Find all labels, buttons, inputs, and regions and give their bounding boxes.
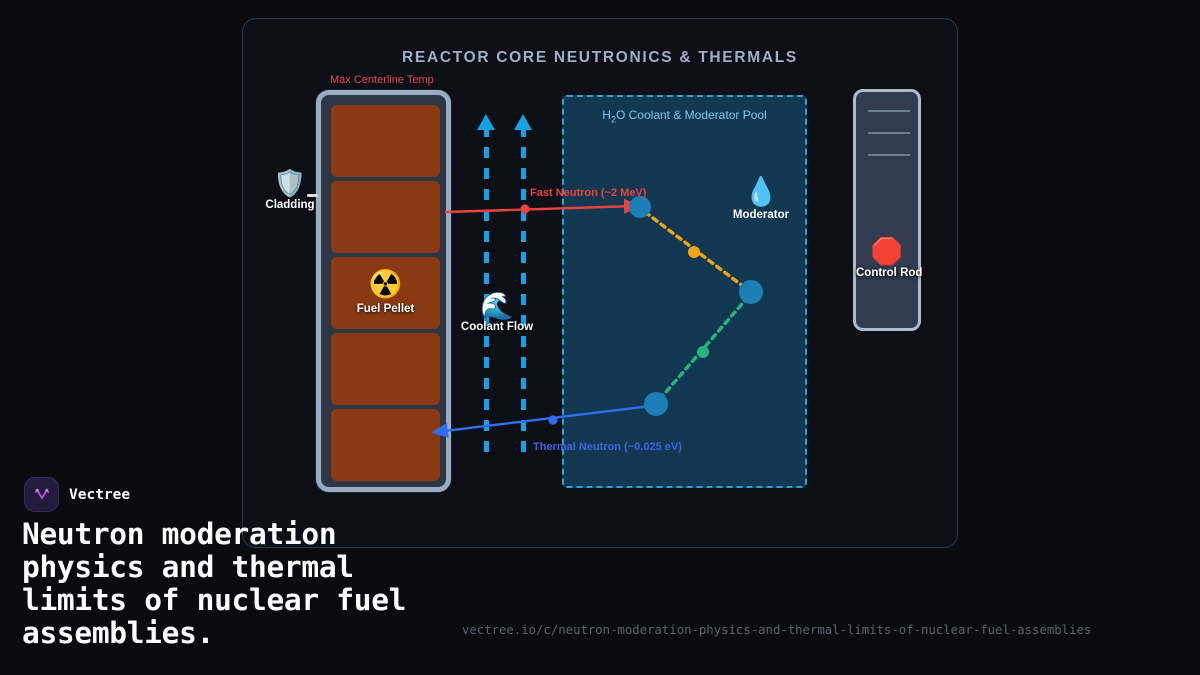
fuel-pellet xyxy=(331,105,440,177)
coolant-flow-line xyxy=(521,126,526,456)
fuel-pellet xyxy=(331,181,440,253)
fuel-pellet-label: Fuel Pellet xyxy=(331,303,440,315)
page-url: vectree.io/c/neutron-moderation-physics-… xyxy=(462,623,1091,637)
brand-name: Vectree xyxy=(69,487,130,503)
thermal-neutron-label: Thermal Neutron (~0.025 eV) xyxy=(533,441,682,453)
moderator-pool-title: H2O Coolant & Moderator Pool xyxy=(564,108,805,124)
control-rod-badge: 🛑 Control Rod xyxy=(856,238,918,279)
pool-title-prefix: H xyxy=(602,108,611,122)
fuel-pellet: ☢️ Fuel Pellet xyxy=(331,257,440,329)
control-rod-tick xyxy=(868,154,910,156)
shield-icon: 🛡️ xyxy=(258,170,322,196)
page-title: REACTOR CORE NEUTRONICS & THERMALS xyxy=(243,49,957,67)
moderator-callout: 💧 Moderator xyxy=(725,178,797,221)
coolant-flow-callout: 🌊 Coolant Flow xyxy=(452,293,542,333)
cladding-callout: 🛡️ Cladding xyxy=(258,170,322,211)
max-centerline-temp-label: Max Centerline Temp xyxy=(330,74,434,86)
control-rod[interactable]: 🛑 Control Rod xyxy=(853,89,921,331)
moderator-label: Moderator xyxy=(725,209,797,221)
wave-icon: 🌊 xyxy=(452,293,542,320)
moderator-pool: H2O Coolant & Moderator Pool xyxy=(562,95,807,488)
screenshot-root: REACTOR CORE NEUTRONICS & THERMALS Max C… xyxy=(0,0,1200,675)
cladding-connector-dash xyxy=(307,194,318,197)
control-rod-tick xyxy=(868,110,910,112)
control-rod-tick xyxy=(868,132,910,134)
cladding-label: Cladding xyxy=(258,199,322,211)
fuel-pellet xyxy=(331,333,440,405)
fuel-pellet xyxy=(331,409,440,481)
coolant-flow-label: Coolant Flow xyxy=(452,321,542,333)
fuel-assembly-cladding-tube[interactable]: ☢️ Fuel Pellet xyxy=(316,90,451,492)
fast-neutron-label: Fast Neutron (~2 MeV) xyxy=(530,187,646,199)
control-rod-label: Control Rod xyxy=(856,267,918,279)
brand[interactable]: Vectree xyxy=(24,477,130,512)
vectree-logo-icon xyxy=(24,477,59,512)
pool-title-suffix: O Coolant & Moderator Pool xyxy=(616,108,767,122)
fuel-pellet-badge: ☢️ Fuel Pellet xyxy=(331,271,440,315)
radioactive-icon: ☢️ xyxy=(331,271,440,298)
droplet-icon: 💧 xyxy=(725,178,797,206)
stop-octagon-icon: 🛑 xyxy=(856,238,918,264)
headline: Neutron moderation physics and thermal l… xyxy=(22,518,472,650)
